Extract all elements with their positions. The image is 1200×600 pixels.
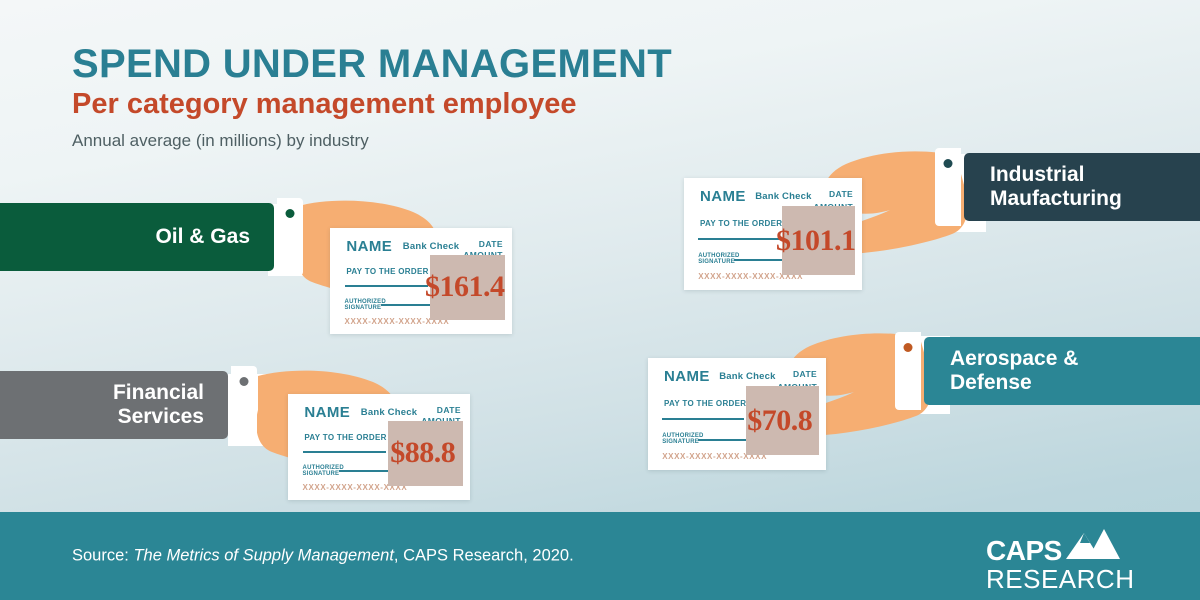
check-name-label: NAME [700, 188, 746, 205]
banner-dot-icon [286, 209, 295, 218]
source-suffix: , CAPS Research, 2020. [394, 547, 574, 565]
banner-tab [277, 198, 303, 276]
check-financial-services: NAME Bank Check DATE AMOUNT PAY TO THE O… [288, 394, 470, 500]
caps-research-logo: CAPS RESEARCH [986, 527, 1136, 585]
category-banner-industrial-manufacturing: Industrial Maufacturing [935, 148, 1200, 226]
category-banner-financial-services: Financial Services [0, 366, 257, 444]
check-date-label: DATE [437, 405, 461, 415]
signature-line-2: SIGNATURE [345, 305, 382, 311]
check-signature-label: AUTHORIZED SIGNATURE [303, 465, 344, 478]
category-label-line-2: Defense [950, 371, 1032, 394]
check-amount-value: $101.1 [777, 206, 855, 275]
check-bank-label: Bank Check [755, 191, 811, 202]
banner-bar: Financial Services [0, 371, 228, 439]
banner-dot-icon [944, 159, 953, 168]
page-subtitle: Per category management employee [72, 89, 932, 121]
check-date-label: DATE [829, 189, 853, 199]
source-title: The Metrics of Supply Management [133, 547, 393, 565]
banner-bar: Oil & Gas [0, 203, 274, 271]
banner-bar: Industrial Maufacturing [964, 153, 1200, 221]
footer: Source: The Metrics of Supply Management… [0, 512, 1200, 600]
banner-tab [895, 332, 921, 410]
check-payee-line [303, 451, 387, 453]
check-payee-line [662, 418, 744, 420]
banner-tab [935, 148, 961, 226]
banner-dot-icon [904, 343, 913, 352]
check-bank-label: Bank Check [403, 241, 459, 252]
logo-research-text: RESEARCH [986, 566, 1136, 592]
signature-line-1: AUTHORIZED [345, 299, 386, 305]
category-banner-aerospace-defense: Aerospace & Defense [895, 332, 1200, 410]
category-label-line-2: Services [118, 405, 204, 428]
logo-top-row: CAPS [986, 527, 1136, 565]
category-label-line-1: Industrial [990, 163, 1085, 186]
category-label-financial-services: Financial Services [113, 381, 204, 428]
header: SPEND UNDER MANAGEMENT Per category mana… [72, 44, 932, 151]
check-aerospace-defense: NAME Bank Check DATE AMOUNT PAY TO THE O… [648, 358, 826, 470]
logo-caps-text: CAPS [986, 537, 1062, 565]
check-industrial-manufacturing: NAME Bank Check DATE AMOUNT PAY TO THE O… [684, 178, 862, 290]
signature-line-2: SIGNATURE [303, 471, 340, 477]
check-name-label: NAME [346, 238, 392, 255]
source-prefix: Source: [72, 547, 133, 565]
banner-dot-icon [240, 377, 249, 386]
category-banner-oil-gas: Oil & Gas [0, 198, 303, 276]
source-citation: Source: The Metrics of Supply Management… [72, 547, 574, 566]
check-oil-gas: NAME Bank Check DATE AMOUNT PAY TO THE O… [330, 228, 512, 334]
page-kicker: Annual average (in millions) by industry [72, 131, 932, 151]
category-label-aerospace-defense: Aerospace & Defense [950, 347, 1078, 394]
check-payee-line [698, 238, 780, 240]
check-name-label: NAME [664, 368, 710, 385]
check-bank-label: Bank Check [361, 407, 417, 418]
check-amount-value: $88.8 [383, 421, 463, 487]
check-signature-label: AUTHORIZED SIGNATURE [345, 299, 386, 312]
category-label-industrial-manufacturing: Industrial Maufacturing [990, 163, 1122, 210]
banner-bar: Aerospace & Defense [924, 337, 1200, 405]
check-name-label: NAME [304, 404, 350, 421]
banner-tab [231, 366, 257, 444]
category-label-line-1: Financial [113, 381, 204, 404]
category-label-line-2: Maufacturing [990, 187, 1122, 210]
signature-line-2: SIGNATURE [698, 259, 735, 265]
check-date-label: DATE [479, 239, 503, 249]
mountain-icon [1066, 527, 1128, 564]
check-date-label: DATE [793, 369, 817, 379]
page-title: SPEND UNDER MANAGEMENT [72, 44, 932, 86]
check-amount-value: $161.4 [425, 255, 505, 321]
check-payee-line [345, 285, 429, 287]
signature-line-1: AUTHORIZED [303, 465, 344, 471]
category-label-line-1: Aerospace & [950, 347, 1078, 370]
check-amount-value: $70.8 [741, 386, 819, 455]
check-bank-label: Bank Check [719, 371, 775, 382]
signature-line-2: SIGNATURE [662, 439, 699, 445]
category-label-oil-gas: Oil & Gas [155, 225, 250, 249]
